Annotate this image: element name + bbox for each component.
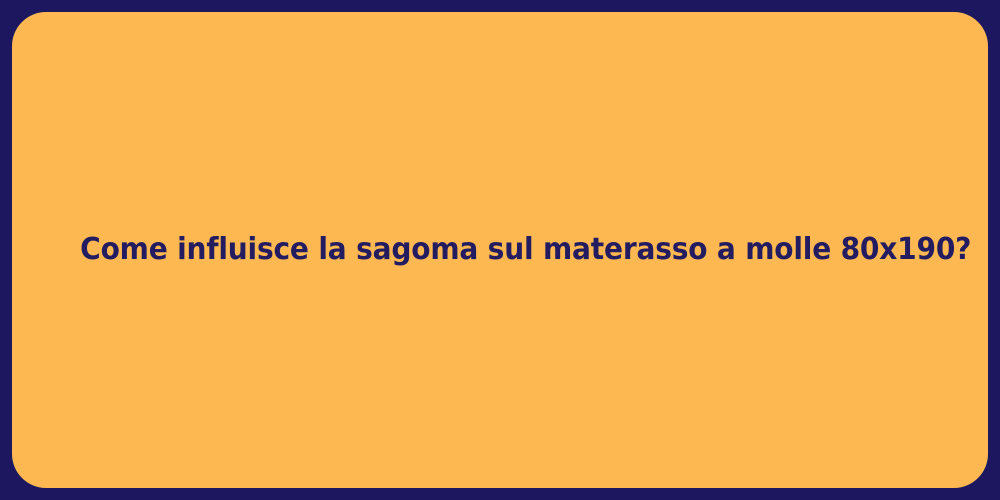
headline-text: Come influisce la sagoma sul materasso a… [80, 231, 920, 269]
banner-background: Come influisce la sagoma sul materasso a… [0, 0, 1000, 500]
content-card: Come influisce la sagoma sul materasso a… [12, 12, 988, 488]
